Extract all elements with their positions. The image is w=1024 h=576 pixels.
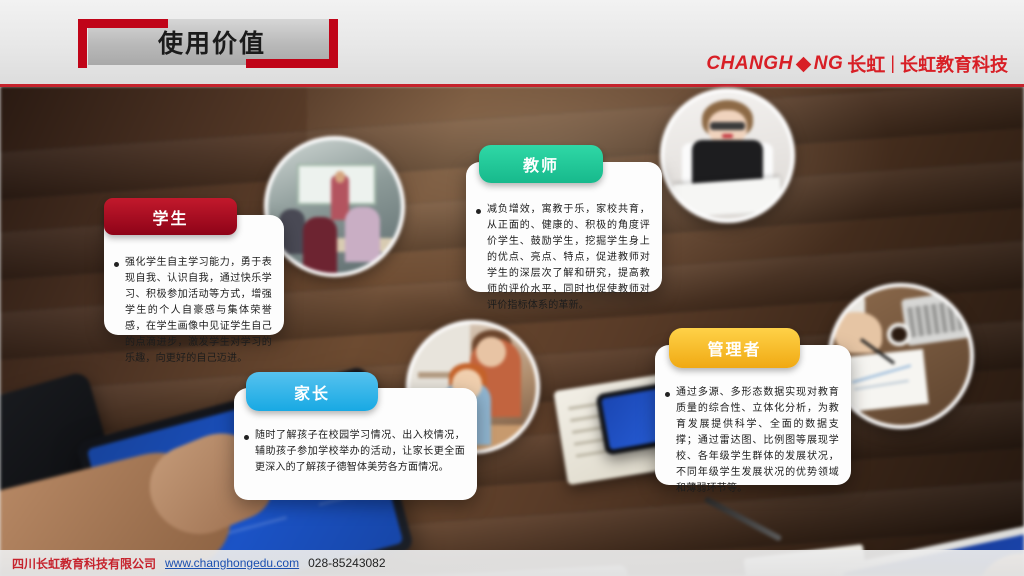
changhong-logo: CHANGH NG 长虹 | 长虹教育科技 [706,50,1008,77]
card-manager-text: 通过多源、多形态数据实现对教育质量的综合性、立体化分析，为教育发展提供科学、全面… [676,385,839,497]
logo-divider: | [890,53,895,74]
card-parent-body: 随时了解孩子在校园学习情况、出入校情况，辅助孩子参加学校举办的活动，让家长更全面… [234,422,477,500]
card-teacher-text: 减负增效，寓教于乐，家校共育，从正面的、健康的、积极的角度评价学生、鼓励学生，挖… [487,202,650,314]
badge-teacher[interactable]: 教师 [479,145,603,183]
card-manager-body: 通过多源、多形态数据实现对教育质量的综合性、立体化分析，为教育发展提供科学、全面… [655,379,851,485]
page-title: 使用价值 [78,19,346,65]
title-frame: 使用价值 [78,19,338,68]
header-red-rule [0,84,1024,87]
logo-brand-cn: 长虹 [847,50,885,77]
photo-teacher-reading [660,88,795,223]
photo-student-classroom [264,136,405,277]
card-parent-text: 随时了解孩子在校园学习情况、出入校情况，辅助孩子参加学校举办的活动，让家长更全面… [255,428,465,476]
card-student-body: 强化学生自主学习能力，勇于表现自我、认识自我，通过快乐学习、积极参加活动等方式，… [104,249,284,335]
footer-phone: 028-85243082 [308,556,385,570]
badge-parent[interactable]: 家长 [246,372,378,411]
badge-student[interactable]: 学生 [104,198,237,235]
header-bar: 使用价值 CHANGH NG 长虹 | 长虹教育科技 [0,0,1024,86]
footer-bar: 四川长虹教育科技有限公司 www.changhongedu.com 028-85… [0,550,1024,576]
card-teacher-body: 减负增效，寓教于乐，家校共育，从正面的、健康的、积极的角度评价学生、鼓励学生，挖… [466,196,662,292]
bullet-icon [476,209,481,214]
bullet-icon [114,262,119,267]
bullet-icon [665,392,670,397]
logo-diamond-icon [796,57,812,73]
logo-subbrand-cn: 长虹教育科技 [900,51,1008,77]
logo-english-head: CHANGH [706,53,792,75]
card-student-text: 强化学生自主学习能力，勇于表现自我、认识自我，通过快乐学习、积极参加活动等方式，… [125,255,272,367]
badge-manager[interactable]: 管理者 [669,328,800,368]
slide-root: 85.00% 85.00% [0,0,1024,576]
bullet-icon [244,435,249,440]
footer-website-link[interactable]: www.changhongedu.com [165,556,299,570]
footer-company: 四川长虹教育科技有限公司 [12,555,156,572]
logo-english-tail: NG [814,53,844,75]
